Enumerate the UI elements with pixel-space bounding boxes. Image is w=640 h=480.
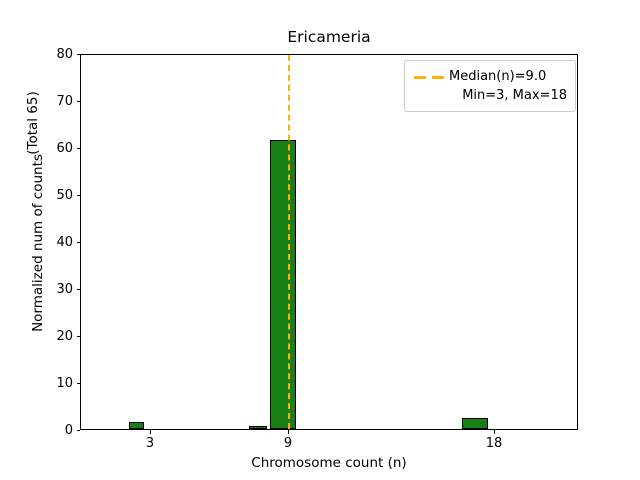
y-tick-20: 20	[30, 330, 73, 343]
bar-3	[129, 422, 144, 429]
chart-figure: Ericameria Normalized num of counts (Tot…	[0, 0, 640, 480]
x-tick-3: 3	[120, 436, 180, 451]
bar-8	[249, 426, 267, 429]
bar-9	[270, 140, 296, 429]
dashed-line-icon	[413, 67, 449, 86]
y-tick-50: 50	[30, 189, 73, 202]
x-tick-mark-18	[494, 430, 495, 434]
x-tick-mark-3	[150, 430, 151, 434]
legend-label-median: Median(n)=9.0	[449, 67, 567, 86]
y-tick-70: 70	[30, 95, 73, 108]
legend: Median(n)=9.0 Min=3, Max=18	[404, 60, 576, 112]
x-tick-18: 18	[464, 436, 524, 451]
bar-18	[462, 418, 488, 429]
y-tick-40: 40	[30, 236, 73, 249]
legend-row-minmax: Min=3, Max=18	[413, 86, 567, 105]
y-tick-30: 30	[30, 283, 73, 296]
y-tick-10: 10	[30, 377, 73, 390]
y-tick-0: 0	[30, 424, 73, 437]
y-tick-mark-0	[77, 430, 81, 431]
chart-title: Ericameria	[80, 27, 578, 47]
x-tick-mark-9	[288, 430, 289, 434]
y-tick-60: 60	[30, 142, 73, 155]
y-axis-secondary-label: (Total 65)	[25, 68, 41, 178]
legend-row-median: Median(n)=9.0	[413, 67, 567, 86]
legend-label-minmax: Min=3, Max=18	[413, 86, 567, 105]
median-line	[288, 55, 290, 429]
x-tick-9: 9	[258, 436, 318, 451]
y-tick-80: 80	[30, 48, 73, 61]
x-axis-label: Chromosome count (n)	[80, 455, 578, 471]
